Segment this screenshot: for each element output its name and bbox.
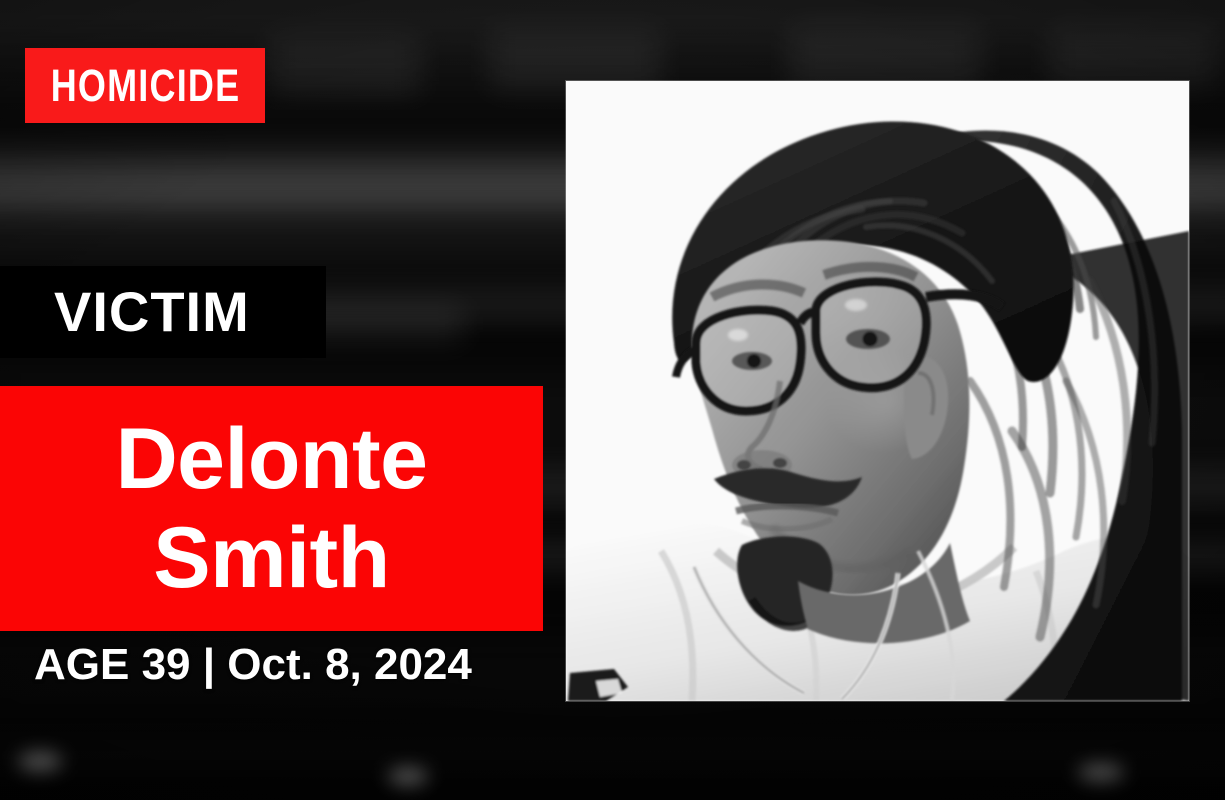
homicide-victim-card: HOMICIDE VICTIM Delonte Smith AGE 39 | O… bbox=[0, 0, 1225, 800]
homicide-badge-label: HOMICIDE bbox=[50, 63, 240, 108]
victim-role-bar: VICTIM bbox=[0, 266, 326, 358]
victim-portrait-photo bbox=[566, 81, 1189, 701]
victim-photo-panel bbox=[566, 81, 1189, 701]
victim-role-label: VICTIM bbox=[0, 284, 250, 340]
age-date-text: AGE 39 | Oct. 8, 2024 bbox=[34, 643, 472, 687]
card-foreground: HOMICIDE VICTIM Delonte Smith AGE 39 | O… bbox=[0, 0, 1225, 800]
victim-name-block: Delonte Smith bbox=[0, 386, 543, 631]
victim-last-name: Smith bbox=[153, 509, 389, 607]
homicide-category-badge: HOMICIDE bbox=[25, 48, 265, 123]
victim-first-name: Delonte bbox=[116, 410, 428, 508]
age-and-date-line: AGE 39 | Oct. 8, 2024 bbox=[34, 636, 472, 694]
